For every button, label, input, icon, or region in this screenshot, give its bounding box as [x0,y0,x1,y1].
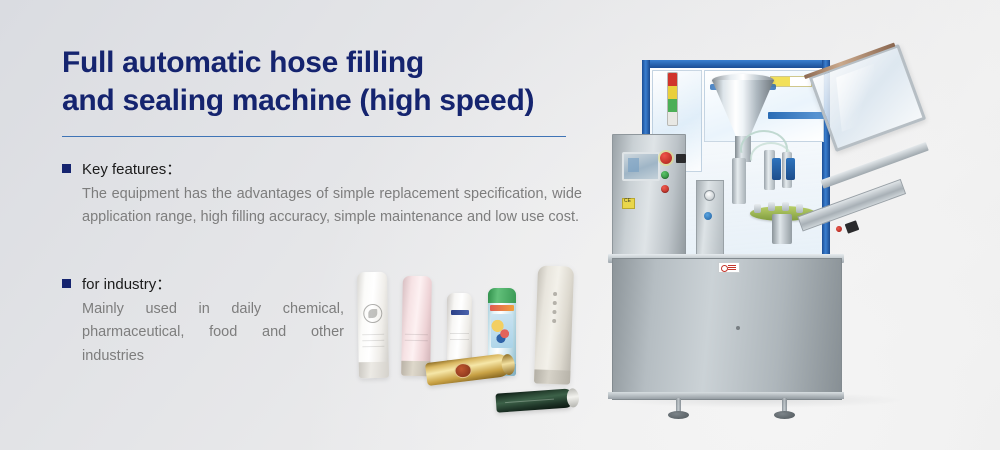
tube-dot-pattern [552,292,557,323]
ce-label-icon [622,198,635,209]
machine-photo [600,30,930,415]
bullet-square-icon [62,279,71,288]
page-title: Full automatic hose filling and sealing … [62,44,582,121]
tube-seam [405,340,427,341]
tube-top-band [488,288,516,303]
tube-cap [534,369,570,384]
safety-warning-sticker [718,262,740,273]
feature-heading: Key features： [82,162,181,177]
product-banner: Full automatic hose filling and sealing … [0,0,1000,450]
pressure-gauge-icon [704,190,715,201]
tube-cap [566,388,579,408]
tube-dark-green-horizontal [495,388,574,412]
tube-gold-horizontal [425,353,511,386]
feature-heading-row: Key features： [62,162,582,177]
tube-brand-band [451,310,469,315]
stack-light-icon [667,72,678,126]
turntable-hub [772,214,792,244]
tube-seam [450,339,469,340]
conveyor-indicator-light [835,225,843,233]
tube-holder [782,202,789,211]
stop-button[interactable] [661,185,669,193]
tube-artwork [491,314,513,348]
feature-body: The equipment has the advantages of simp… [82,183,582,230]
tube-medal-icon [454,362,473,379]
tube-pink [401,276,432,376]
tube-holder [754,204,761,213]
conveyor-sensor [845,220,860,234]
tube-seam [362,346,385,347]
cabinet-door-lock[interactable] [736,326,740,330]
tube-seam [362,334,385,335]
tube-seam [362,340,385,341]
tube-emblem-icon [363,304,382,323]
base-cabinet [612,258,842,400]
tube-white-cream [357,272,389,379]
title-divider [62,136,566,137]
feature-block-key-features: Key features： The equipment has the adva… [62,162,582,230]
machine-shadow [610,392,910,408]
filling-head [732,158,746,204]
pneumatic-cylinder [772,158,781,180]
emergency-stop-button[interactable] [660,152,672,164]
frame-top-rail [642,60,830,68]
feature-block-for-industry: for industry： Mainly used in daily chemi… [62,277,362,368]
regulator-knob[interactable] [704,212,712,220]
tube-holder [768,202,775,211]
tube-large-beige [534,265,574,384]
product-tubes-photo [348,258,603,423]
brand-label-strip [768,112,826,119]
tube-text-line [505,398,553,402]
tube-seam [450,333,469,334]
selector-switch[interactable] [676,154,686,163]
feature-heading-row: for industry： [62,277,362,292]
tube-cap [359,362,389,379]
bullet-square-icon [62,164,71,173]
feature-body: Mainly used in daily chemical, pharmaceu… [82,298,344,368]
hmi-touchscreen[interactable] [622,152,660,181]
tube-seam [405,334,427,335]
feature-heading: for industry： [82,277,171,292]
pneumatic-cylinder [786,158,795,180]
headline-block: Full automatic hose filling and sealing … [62,44,582,121]
tube-holder [796,204,803,213]
tube-accent-band [490,305,514,311]
start-button[interactable] [661,171,669,179]
